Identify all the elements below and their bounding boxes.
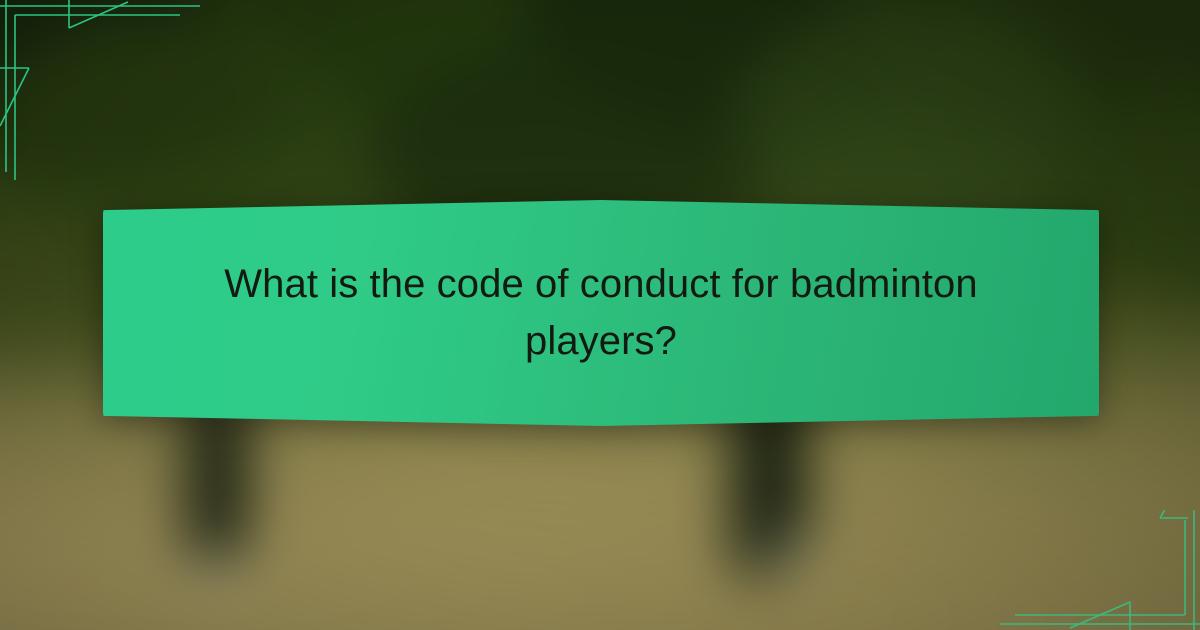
screenshot-stage: What is the code of conduct for badminto… [0, 0, 1200, 630]
blurred-person-shoe [196, 556, 231, 582]
question-card: What is the code of conduct for badminto… [103, 200, 1099, 426]
question-text: What is the code of conduct for badminto… [213, 256, 990, 370]
